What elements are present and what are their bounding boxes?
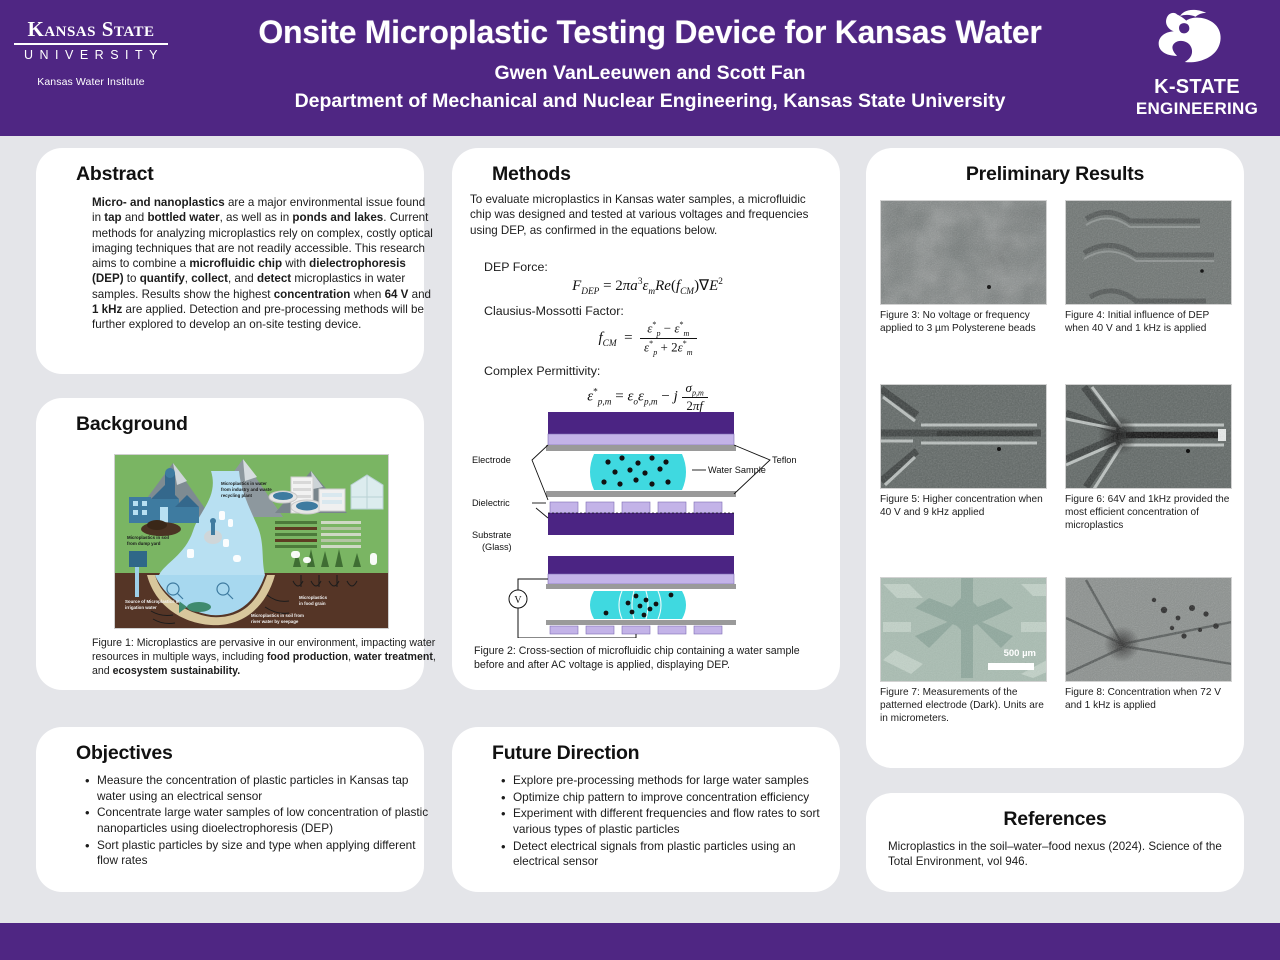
abstract-card: Abstract Micro- and nanoplastics are a m… <box>36 148 424 374</box>
figure-8-image <box>1065 577 1232 682</box>
equation-clausius-mossotti: fCM = ε*p − ε*m ε*p + 2ε*m <box>470 320 825 357</box>
department: Department of Mechanical and Nuclear Eng… <box>182 90 1118 113</box>
emphasis-text: collect <box>191 272 228 285</box>
future-direction-item: Optimize chip pattern to improve concent… <box>500 790 844 806</box>
figure-6-cell: Figure 6: 64V and 1kHz provided the most… <box>1065 384 1232 532</box>
micrograph-speckle <box>1066 578 1232 682</box>
equation-dep-force: FDEP = 2πa3εmRe(fCM)∇E2 <box>470 276 825 297</box>
abstract-heading: Abstract <box>36 148 424 186</box>
microplastics-environment-illustration: Microplastics in water from industry and… <box>115 455 389 629</box>
dep-force-label: DEP Force: <box>484 260 825 274</box>
emphasis-text: detect <box>257 272 291 285</box>
references-list: Microplastics in the soil–water–food nex… <box>888 839 1223 870</box>
objectives-card: Objectives Measure the concentration of … <box>36 727 424 892</box>
emphasis-text: 64 V <box>385 288 409 301</box>
label-voltage-source: V <box>514 595 522 606</box>
figure-3-caption: Figure 3: No voltage or frequency applie… <box>880 309 1047 335</box>
methods-heading: Methods <box>452 148 840 186</box>
plain-text: when <box>350 288 384 301</box>
powercat-icon <box>1151 8 1243 70</box>
clausius-mossotti-label: Clausius-Mossotti Factor: <box>484 304 825 318</box>
background-card: Background <box>36 398 424 690</box>
svg-text:recycling plant: recycling plant <box>221 493 253 498</box>
figure-4-image <box>1065 200 1232 305</box>
label-electrode: Electrode <box>472 455 511 465</box>
label-teflon: Teflon <box>772 455 797 465</box>
references-card: References Microplastics in the soil–wat… <box>866 793 1244 892</box>
poster-footer <box>0 923 1280 960</box>
emphasis-text: food production <box>267 651 348 663</box>
emphasis-text: bottled water <box>147 211 219 224</box>
micrograph-star <box>881 385 1047 489</box>
logo-divider <box>14 43 168 45</box>
plain-text: with <box>282 257 309 270</box>
svg-text:river water by seepage: river water by seepage <box>251 619 299 624</box>
future-direction-heading: Future Direction <box>452 727 840 765</box>
figure-8-caption: Figure 8: Concentration when 72 V and 1 … <box>1065 686 1232 712</box>
methods-equations: DEP Force: FDEP = 2πa3εmRe(fCM)∇E2 Claus… <box>470 260 825 421</box>
figure-3-cell: Figure 3: No voltage or frequency applie… <box>880 200 1047 335</box>
kstate-engineering-logo: K-STATE ENGINEERING <box>1118 6 1276 119</box>
header-title-block: Onsite Microplastic Testing Device for K… <box>182 14 1118 113</box>
label-substrate: Substrate <box>472 530 511 540</box>
microfluidic-chip-cross-section: Electrode Dielectric Substrate (Glass) W… <box>470 410 822 638</box>
preliminary-results-card: Preliminary Results Figure <box>866 148 1244 768</box>
results-heading: Preliminary Results <box>866 148 1244 186</box>
figure-7-scale-bar <box>988 663 1034 670</box>
abstract-text: Micro- and nanoplastics are a major envi… <box>92 195 433 333</box>
label-water-sample: Water Sample <box>708 465 766 475</box>
micrograph-flat <box>881 201 1047 305</box>
methods-card: Methods To evaluate microplastics in Kan… <box>452 148 840 690</box>
objective-item: Concentrate large water samples of low c… <box>84 805 430 836</box>
objectives-heading: Objectives <box>36 727 424 765</box>
emphasis-text: concentration <box>274 288 351 301</box>
background-heading: Background <box>36 398 424 436</box>
university-subword: UNIVERSITY <box>0 48 182 62</box>
emphasis-text: 1 kHz <box>92 303 122 316</box>
emphasis-text: ecosystem sustainability. <box>113 665 241 677</box>
figure-8-cell: Figure 8: Concentration when 72 V and 1 … <box>1065 577 1232 712</box>
brand-kstate: K-STATE <box>1118 76 1276 99</box>
future-direction-item: Explore pre-processing methods for large… <box>500 773 844 789</box>
figure-6-caption: Figure 6: 64V and 1kHz provided the most… <box>1065 493 1232 532</box>
figure-2-diagram: Electrode Dielectric Substrate (Glass) W… <box>470 410 822 638</box>
objective-item: Measure the concentration of plastic par… <box>84 773 430 804</box>
university-wordmark: KANSAS STATE <box>0 18 182 41</box>
label-dielectric: Dielectric <box>472 498 510 508</box>
emphasis-text: quantify <box>140 272 185 285</box>
figure-7-scale-label: 500 µm <box>1004 648 1036 659</box>
figure-7-caption: Figure 7: Measurements of the patterned … <box>880 686 1047 725</box>
svg-text:Microplastics in soil: Microplastics in soil <box>127 535 169 540</box>
authors: Gwen VanLeeuwen and Scott Fan <box>182 62 1118 85</box>
emphasis-text: ponds and lakes <box>292 211 383 224</box>
figure-2-caption: Figure 2: Cross-section of microfluidic … <box>474 645 822 673</box>
figure-1-caption: Figure 1: Microplastics are pervasive in… <box>92 637 436 679</box>
figure-7-image: 500 µm <box>880 577 1047 682</box>
svg-text:Microplastics: Microplastics <box>299 595 328 600</box>
svg-text:from dump yard: from dump yard <box>127 541 161 546</box>
plain-text: to <box>124 272 140 285</box>
brand-engineering: ENGINEERING <box>1118 99 1276 119</box>
micrograph-edges <box>1066 201 1232 305</box>
emphasis-text: tap <box>104 211 121 224</box>
objectives-list: Measure the concentration of plastic par… <box>84 773 430 870</box>
page-title: Onsite Microplastic Testing Device for K… <box>182 14 1118 51</box>
objective-item: Sort plastic particles by size and type … <box>84 838 430 869</box>
svg-text:Microplastics in soil from: Microplastics in soil from <box>251 613 304 618</box>
future-direction-item: Experiment with different frequencies an… <box>500 806 844 837</box>
figure-5-caption: Figure 5: Higher concentration when 40 V… <box>880 493 1047 519</box>
methods-intro-text: To evaluate microplastics in Kansas wate… <box>470 192 815 238</box>
plain-text: are applied. Detection and pre-processin… <box>92 303 424 331</box>
future-direction-list: Explore pre-processing methods for large… <box>500 773 844 871</box>
kansas-water-institute-label: Kansas Water Institute <box>0 76 182 88</box>
plain-text: , as well as in <box>220 211 293 224</box>
svg-text:from industry and waste: from industry and waste <box>221 487 272 492</box>
svg-text:Microplastics in water: Microplastics in water <box>221 481 267 486</box>
emphasis-text: microfluidic chip <box>189 257 282 270</box>
figure-1-image: Microplastics in water from industry and… <box>114 454 389 629</box>
label-substrate-glass: (Glass) <box>482 542 512 552</box>
kansas-state-logo: KANSAS STATE UNIVERSITY Kansas Water Ins… <box>0 18 182 88</box>
emphasis-text: water treatment <box>354 651 433 663</box>
figure-5-image <box>880 384 1047 489</box>
figure-3-image <box>880 200 1047 305</box>
reference-entry: Microplastics in the soil–water–food nex… <box>888 839 1223 870</box>
references-heading: References <box>866 793 1244 831</box>
plain-text: and <box>408 288 431 301</box>
plain-text: and <box>122 211 148 224</box>
future-direction-card: Future Direction Explore pre-processing … <box>452 727 840 892</box>
figure-4-caption: Figure 4: Initial influence of DEP when … <box>1065 309 1232 335</box>
plain-text: , and <box>228 272 257 285</box>
figure-5-cell: Figure 5: Higher concentration when 40 V… <box>880 384 1047 519</box>
poster-header: KANSAS STATE UNIVERSITY Kansas Water Ins… <box>0 0 1280 136</box>
svg-text:in food grain: in food grain <box>299 601 326 606</box>
figure-4-cell: Figure 4: Initial influence of DEP when … <box>1065 200 1232 335</box>
future-direction-item: Detect electrical signals from plastic p… <box>500 839 844 870</box>
svg-text:irrigation water: irrigation water <box>125 605 157 610</box>
figure-7-cell: 500 µm Figure 7: Measurements of the pat… <box>880 577 1047 725</box>
svg-text:Source of Microplastics in: Source of Microplastics in <box>125 599 180 604</box>
emphasis-text: Micro- and nanoplastics <box>92 196 225 209</box>
complex-permittivity-label: Complex Permittivity: <box>484 364 825 378</box>
figure-6-image <box>1065 384 1232 489</box>
micrograph-star-dark <box>1066 385 1232 489</box>
